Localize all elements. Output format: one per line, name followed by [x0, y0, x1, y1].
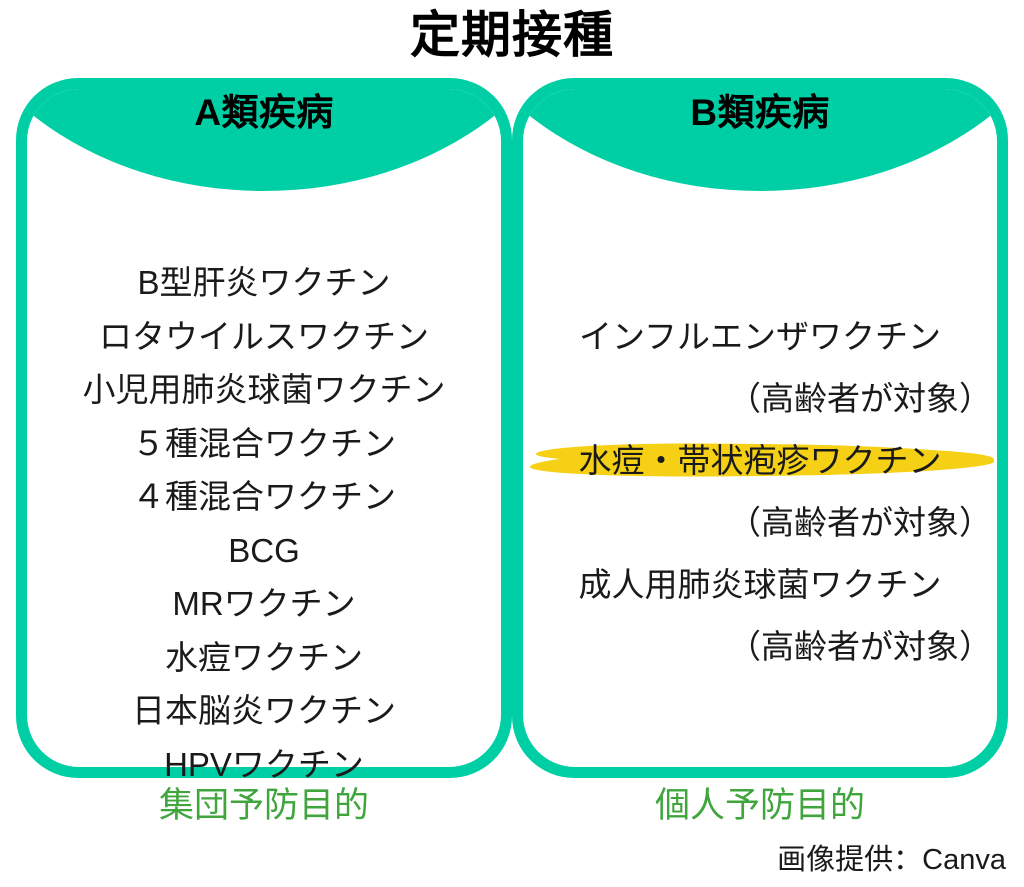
- list-item: B型肝炎ワクチン: [16, 256, 512, 310]
- list-item: 小児用肺炎球菌ワクチン: [16, 363, 512, 417]
- card-category-b: B類疾病 インフルエンザワクチン （高齢者が対象） 水痘・帯状疱疹ワクチン （高…: [512, 78, 1008, 778]
- list-item: ロタウイルスワクチン: [16, 310, 512, 364]
- list-item-highlighted: 水痘・帯状疱疹ワクチン: [512, 430, 1008, 492]
- list-item: 水痘ワクチン: [16, 631, 512, 685]
- card-a-header: A類疾病: [16, 90, 512, 136]
- list-item: 日本脳炎ワクチン: [16, 684, 512, 738]
- list-item-note: （高齢者が対象）: [512, 616, 1008, 678]
- page-title: 定期接種: [0, 4, 1024, 66]
- list-item: ５種混合ワクチン: [16, 417, 512, 471]
- category-cards: A類疾病 B型肝炎ワクチン ロタウイルスワクチン 小児用肺炎球菌ワクチン ５種混…: [16, 78, 1008, 778]
- list-item: 成人用肺炎球菌ワクチン: [512, 554, 1008, 616]
- list-item: インフルエンザワクチン: [512, 306, 1008, 368]
- image-credit: 画像提供：Canva: [777, 841, 1006, 879]
- card-a-vaccine-list: B型肝炎ワクチン ロタウイルスワクチン 小児用肺炎球菌ワクチン ５種混合ワクチン…: [16, 256, 512, 791]
- list-item-note: （高齢者が対象）: [512, 492, 1008, 554]
- list-item: HPVワクチン: [16, 738, 512, 792]
- card-b-vaccine-list: インフルエンザワクチン （高齢者が対象） 水痘・帯状疱疹ワクチン （高齢者が対象…: [512, 306, 1008, 678]
- list-item-highlighted-label: 水痘・帯状疱疹ワクチン: [579, 442, 942, 479]
- list-item-note: （高齢者が対象）: [512, 368, 1008, 430]
- list-item: BCG: [16, 524, 512, 578]
- list-item: MRワクチン: [16, 577, 512, 631]
- list-item: ４種混合ワクチン: [16, 470, 512, 524]
- card-b-header: B類疾病: [512, 90, 1008, 136]
- caption-category-b: 個人予防目的: [512, 780, 1008, 838]
- card-category-a: A類疾病 B型肝炎ワクチン ロタウイルスワクチン 小児用肺炎球菌ワクチン ５種混…: [16, 78, 512, 778]
